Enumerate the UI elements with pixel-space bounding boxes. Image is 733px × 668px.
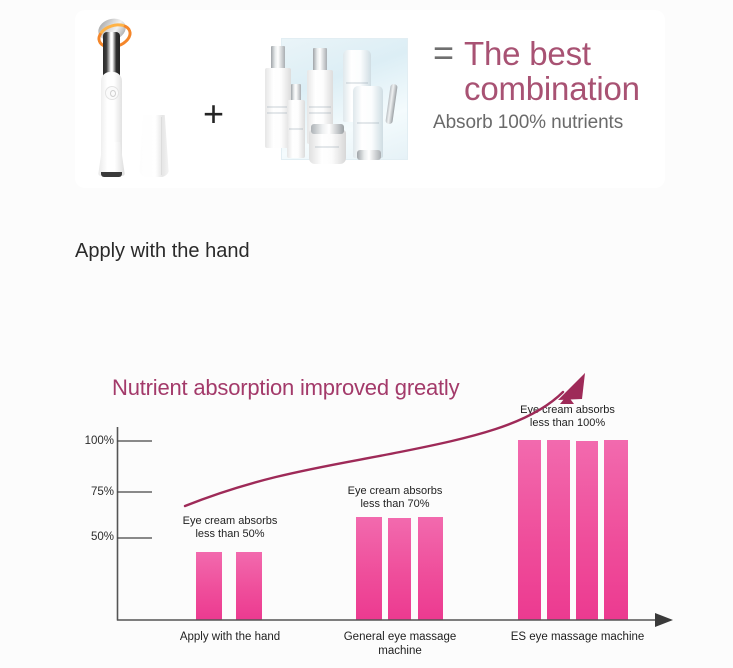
annotation-group-2-line1: Eye cream absorbs: [335, 485, 455, 498]
bar-group3-4: [604, 440, 628, 620]
y-axis-tick-50: 50%: [78, 531, 114, 543]
chart-title: Nutrient absorption improved greatly: [112, 375, 459, 401]
annotation-group-1-line2: less than 50%: [170, 528, 290, 541]
hero-subtitle: Absorb 100% nutrients: [433, 112, 661, 134]
bottle-label: [267, 112, 289, 114]
hero-text-block: = The best combination Absorb 100% nutri…: [433, 36, 661, 134]
wand-base-cap: [101, 172, 122, 177]
x-axis-label-group-1: Apply with the hand: [169, 630, 291, 644]
bottle-cap: [271, 46, 285, 70]
x-axis-label-group-2: General eye massage machine: [338, 630, 462, 658]
wand-stand-cap-image: [139, 115, 169, 177]
bar-group1-2: [236, 552, 262, 620]
bar-group3-1: [518, 440, 541, 620]
y-axis-tick-75: 75%: [78, 486, 114, 498]
skincare-set-image: [257, 32, 422, 184]
bottle-cap: [313, 48, 327, 72]
bottle-label: [309, 112, 331, 114]
annotation-group-2: Eye cream absorbs less than 70%: [335, 485, 455, 511]
annotation-group-2-line2: less than 70%: [335, 498, 455, 511]
bar-group3-2: [547, 440, 570, 620]
bar-group2-2: [388, 518, 411, 620]
annotation-group-3-line2: less than 100%: [505, 417, 630, 430]
tube-label: [357, 122, 379, 124]
eye-massage-wand-image: [93, 14, 131, 182]
wand-stand-seam: [161, 117, 162, 175]
trend-arrowhead-fill: [558, 373, 585, 400]
x-axis-arrowhead: [655, 613, 673, 627]
bar-group1-1: [196, 552, 222, 620]
y-axis-tick-100: 100%: [78, 435, 114, 447]
hero-product-panel: + = The best combination Ab: [75, 10, 665, 188]
bottle-label: [267, 106, 289, 108]
trend-arrowhead: [560, 373, 585, 404]
tube-label: [346, 82, 368, 84]
hero-headline-row: = The best combination: [433, 36, 661, 106]
equals-icon: =: [433, 36, 454, 70]
cream-jar-lid: [311, 124, 344, 134]
section-heading: Apply with the hand: [75, 240, 250, 263]
annotation-group-1: Eye cream absorbs less than 50%: [170, 515, 290, 541]
annotation-group-3: Eye cream absorbs less than 100%: [505, 404, 630, 430]
bar-group2-3: [418, 517, 443, 620]
bar-group2-1: [356, 517, 382, 620]
annotation-group-3-line1: Eye cream absorbs: [505, 404, 630, 417]
bar-group3-3: [576, 441, 598, 620]
hero-title: The best combination: [464, 36, 661, 106]
x-axis-label-group-3: ES eye massage machine: [505, 630, 650, 644]
bottle-label: [309, 106, 331, 108]
tube-cap: [357, 150, 381, 160]
annotation-group-1-line1: Eye cream absorbs: [170, 515, 290, 528]
bottle-label: [289, 128, 303, 130]
jar-label: [315, 146, 339, 148]
wand-power-button-icon: [105, 86, 119, 100]
plus-icon: +: [203, 96, 224, 132]
